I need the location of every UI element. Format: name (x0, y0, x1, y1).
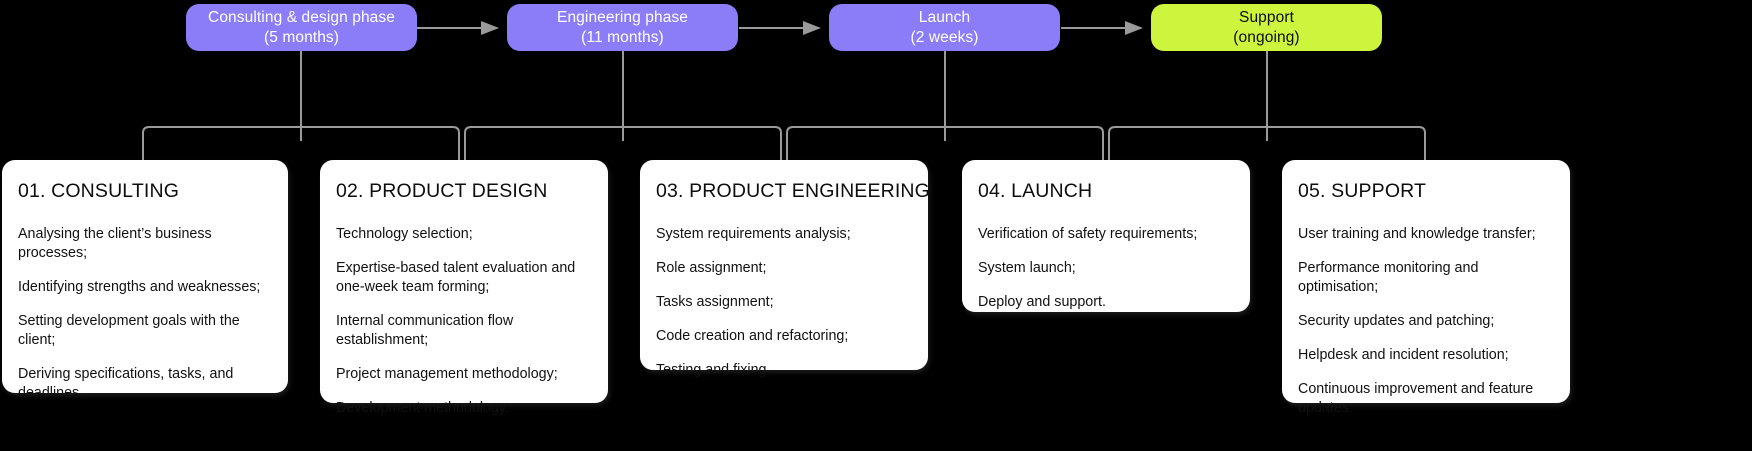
phase-label: Consulting & design phase (208, 8, 395, 28)
card-item: Tasks assignment; (656, 293, 912, 312)
card-item: Analysing the client’s business processe… (18, 225, 272, 263)
phase-duration: (11 months) (581, 28, 664, 48)
phase-label: Support (1239, 8, 1294, 28)
card-item: Internal communication flow establishmen… (336, 312, 592, 350)
card-item: Deriving specifications, tasks, and dead… (18, 365, 272, 403)
phase-duration: (ongoing) (1233, 28, 1299, 48)
card-item: Verification of safety requirements; (978, 225, 1234, 244)
card-item: Technology selection; (336, 225, 592, 244)
process-diagram: Consulting & design phase (5 months) Eng… (0, 0, 1752, 451)
card-item: Code creation and refactoring; (656, 327, 912, 346)
card-item: Role assignment; (656, 259, 912, 278)
detail-card-product-design[interactable]: 02. PRODUCT DESIGN Technology selection;… (320, 160, 608, 403)
card-item: System launch; (978, 259, 1234, 278)
card-item: Development methodology. (336, 399, 592, 418)
card-title: 01. CONSULTING (18, 180, 272, 203)
card-title: 02. PRODUCT DESIGN (336, 180, 592, 203)
phase-pill-consulting-design[interactable]: Consulting & design phase (5 months) (186, 4, 417, 51)
phase-label: Engineering phase (557, 8, 688, 28)
card-item: Performance monitoring and optimisation; (1298, 259, 1554, 297)
card-item: Identifying strengths and weaknesses; (18, 278, 272, 297)
card-item: Testing and fixing. (656, 361, 912, 380)
card-title: 05. SUPPORT (1298, 180, 1554, 203)
phase-pill-launch[interactable]: Launch (2 weeks) (829, 4, 1060, 51)
detail-card-product-engineering[interactable]: 03. PRODUCT ENGINEERING System requireme… (640, 160, 928, 370)
detail-card-consulting[interactable]: 01. CONSULTING Analysing the client’s bu… (2, 160, 288, 393)
card-item: System requirements analysis; (656, 225, 912, 244)
phase-pill-support[interactable]: Support (ongoing) (1151, 4, 1382, 51)
card-item: Deploy and support. (978, 293, 1234, 312)
phase-duration: (2 weeks) (910, 28, 978, 48)
detail-card-launch[interactable]: 04. LAUNCH Verification of safety requir… (962, 160, 1250, 312)
card-item: Expertise-based talent evaluation and on… (336, 259, 592, 297)
card-item: User training and knowledge transfer; (1298, 225, 1554, 244)
phase-label: Launch (919, 8, 970, 28)
card-title: 04. LAUNCH (978, 180, 1234, 203)
card-item: Security updates and patching; (1298, 312, 1554, 331)
phase-pill-engineering[interactable]: Engineering phase (11 months) (507, 4, 738, 51)
phase-duration: (5 months) (264, 28, 339, 48)
detail-card-support[interactable]: 05. SUPPORT User training and knowledge … (1282, 160, 1570, 403)
card-item: Continuous improvement and feature updat… (1298, 380, 1554, 418)
card-item: Helpdesk and incident resolution; (1298, 346, 1554, 365)
card-item: Project management methodology; (336, 365, 592, 384)
card-title: 03. PRODUCT ENGINEERING (656, 180, 912, 203)
card-item: Setting development goals with the clien… (18, 312, 272, 350)
